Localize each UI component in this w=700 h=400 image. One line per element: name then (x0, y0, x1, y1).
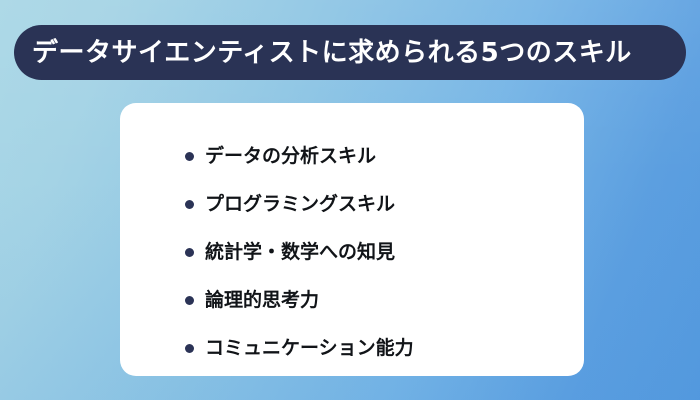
list-item-label: データの分析スキル (205, 147, 376, 166)
list-item: コミュニケーション能力 (120, 324, 584, 372)
slide-canvas: データサイエンティストに求められる5つのスキル データの分析スキル プログラミン… (0, 0, 700, 400)
title-banner: データサイエンティストに求められる5つのスキル (14, 25, 686, 80)
bullet-dot-icon (185, 152, 194, 161)
skills-list: データの分析スキル プログラミングスキル 統計学・数学への知見 論理的思考力 コ… (120, 103, 584, 372)
list-item: プログラミングスキル (120, 180, 584, 228)
bullet-dot-icon (185, 248, 194, 257)
list-item-label: プログラミングスキル (205, 195, 395, 214)
list-item: 論理的思考力 (120, 276, 584, 324)
list-item-label: コミュニケーション能力 (205, 339, 414, 358)
bullet-dot-icon (185, 344, 194, 353)
list-item: 統計学・数学への知見 (120, 228, 584, 276)
page-title: データサイエンティストに求められる5つのスキル (14, 40, 632, 66)
skills-card: データの分析スキル プログラミングスキル 統計学・数学への知見 論理的思考力 コ… (120, 103, 584, 376)
bullet-dot-icon (185, 200, 194, 209)
list-item-label: 統計学・数学への知見 (205, 243, 395, 262)
list-item: データの分析スキル (120, 132, 584, 180)
list-item-label: 論理的思考力 (205, 291, 319, 310)
bullet-dot-icon (185, 296, 194, 305)
